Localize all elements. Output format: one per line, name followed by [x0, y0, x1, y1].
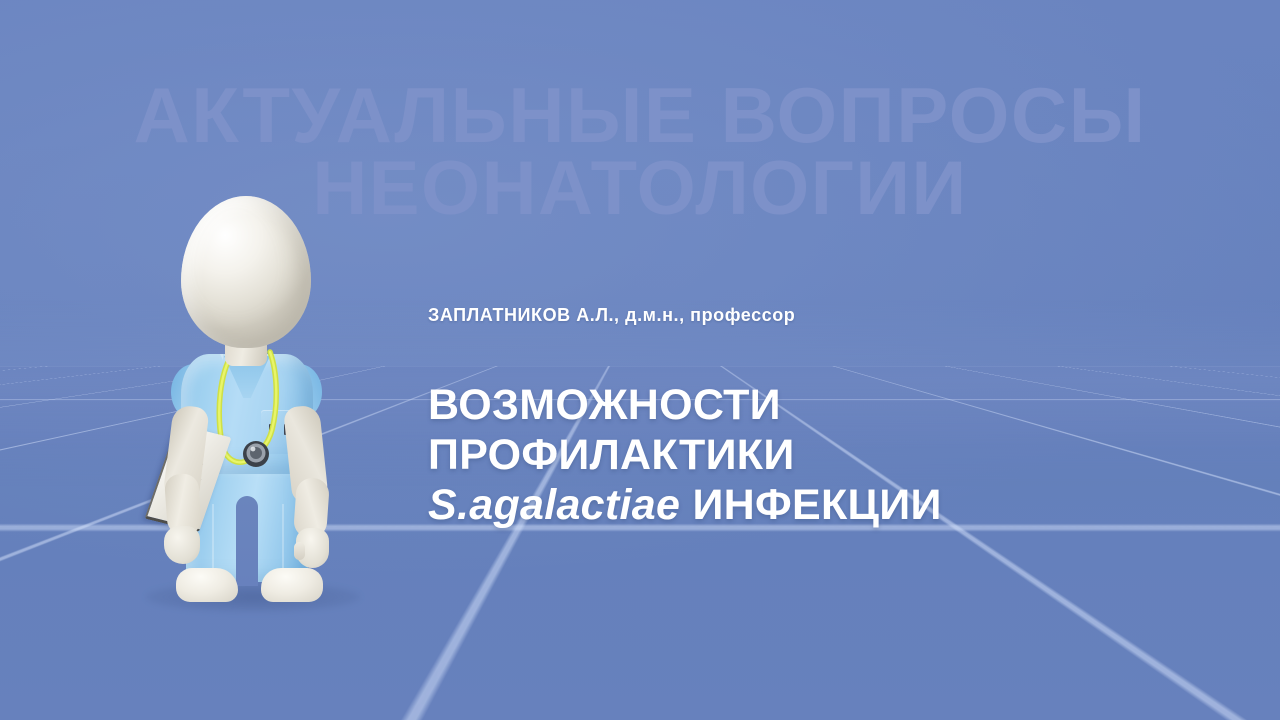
- hand-left: [164, 526, 200, 564]
- leg-separation: [236, 496, 258, 586]
- species-name: S.agalactiae: [428, 481, 680, 529]
- head: [181, 196, 311, 348]
- pant-crease-right: [282, 504, 284, 578]
- shoe-right: [261, 568, 323, 602]
- page-title: ВОЗМОЖНОСТИ ПРОФИЛАКТИКИ S.agalactiae ИН…: [428, 381, 1128, 531]
- title-line-3: S.agalactiae ИНФЕКЦИИ: [428, 481, 1128, 531]
- doctor-figure-illustration: [128, 196, 378, 616]
- title-slide: АКТУАЛЬНЫЕ ВОПРОСЫ НЕОНАТОЛОГИИ: [0, 0, 1280, 720]
- title-line-2: ПРОФИЛАКТИКИ: [428, 431, 1128, 481]
- thumb-right: [294, 542, 305, 560]
- title-line-3-rest: ИНФЕКЦИИ: [680, 481, 941, 529]
- title-line-1: ВОЗМОЖНОСТИ: [428, 381, 1128, 431]
- pant-crease-left: [212, 504, 214, 578]
- shoe-left: [176, 568, 238, 602]
- author-line: ЗАПЛАТНИКОВ А.Л., д.м.н., профессор: [428, 305, 1128, 326]
- title-text-block: ЗАПЛАТНИКОВ А.Л., д.м.н., профессор ВОЗМ…: [428, 305, 1128, 531]
- watermark-line-1: АКТУАЛЬНЫЕ ВОПРОСЫ: [0, 78, 1280, 153]
